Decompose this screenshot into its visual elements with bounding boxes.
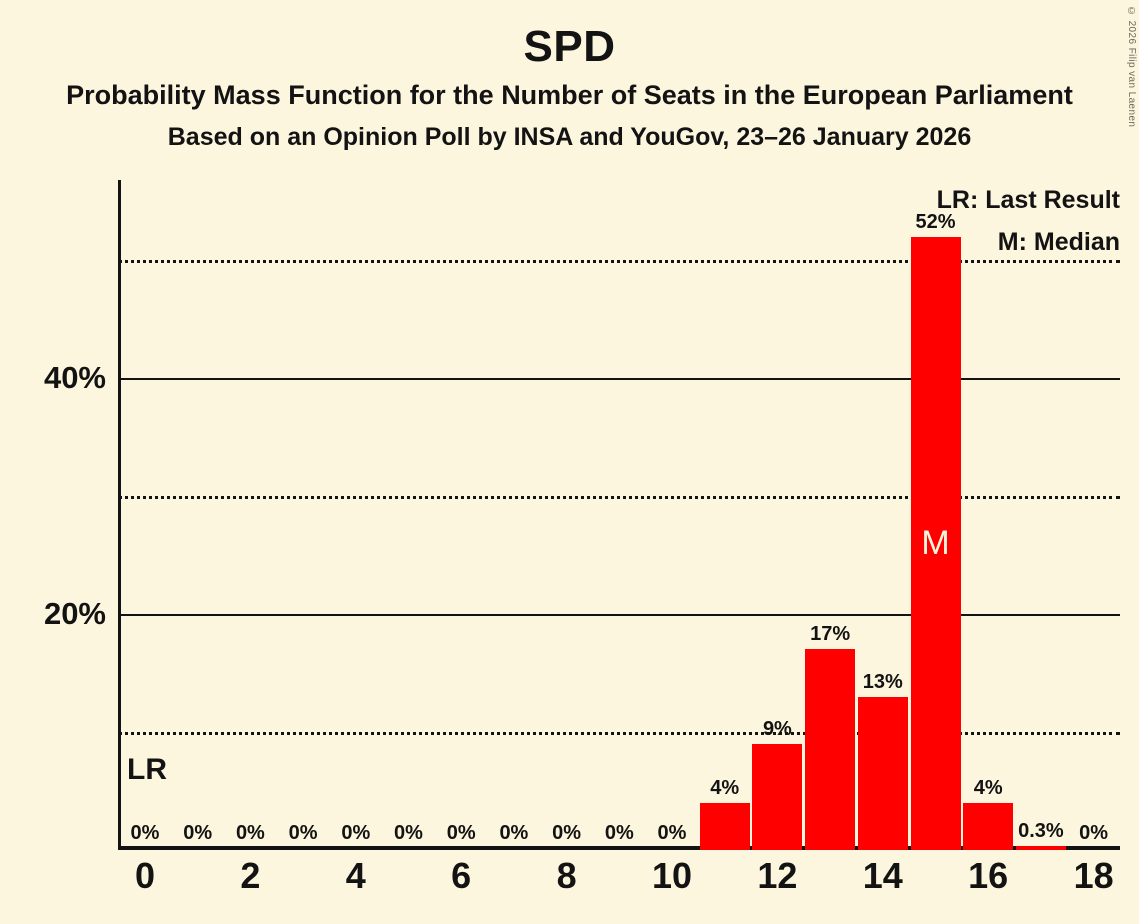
- bar-value-label-seat-16: 4%: [943, 777, 1033, 799]
- x-tick-label-16: 16: [948, 856, 1028, 896]
- x-tick-label-10: 10: [632, 856, 712, 896]
- gridline-40: [118, 378, 1120, 380]
- chart-source-subtitle: Based on an Opinion Poll by INSA and You…: [0, 120, 1139, 154]
- bar-seat-17: [1016, 846, 1066, 850]
- x-tick-label-0: 0: [105, 856, 185, 896]
- x-tick-label-12: 12: [737, 856, 817, 896]
- y-axis-line: [118, 180, 121, 850]
- last-result-marker: LR: [127, 755, 167, 785]
- x-tick-label-8: 8: [527, 856, 607, 896]
- x-tick-label-2: 2: [210, 856, 290, 896]
- page-title: SPD: [0, 22, 1139, 72]
- gridline-30: [118, 496, 1120, 499]
- bar-seat-12: [752, 744, 802, 850]
- gridline-10: [118, 732, 1120, 735]
- chart-subtitle: Probability Mass Function for the Number…: [0, 78, 1139, 112]
- legend-entry-median: M: Median: [998, 228, 1120, 257]
- y-tick-label-40: 40%: [10, 362, 106, 393]
- gridline-20: [118, 614, 1120, 616]
- x-tick-label-18: 18: [1054, 856, 1134, 896]
- x-tick-label-4: 4: [316, 856, 396, 896]
- bar-seat-11: [700, 803, 750, 850]
- y-tick-label-20: 20%: [10, 598, 106, 629]
- x-tick-label-14: 14: [843, 856, 923, 896]
- x-tick-label-6: 6: [421, 856, 501, 896]
- bar-value-label-seat-18: 0%: [1049, 822, 1139, 844]
- median-marker: M: [906, 526, 966, 560]
- gridline-50: [118, 260, 1120, 263]
- bar-seat-14: [858, 697, 908, 850]
- bar-value-label-seat-13: 17%: [785, 623, 875, 645]
- chart-title-block: SPD Probability Mass Function for the Nu…: [0, 0, 1139, 154]
- legend-entry-last-result: LR: Last Result: [937, 186, 1120, 215]
- copyright-notice: © 2026 Filip van Laenen: [1126, 6, 1137, 127]
- plot-area: 20%40% 0%0%0%0%0%0%0%0%0%0%0%4%9%17%13%5…: [118, 180, 1120, 850]
